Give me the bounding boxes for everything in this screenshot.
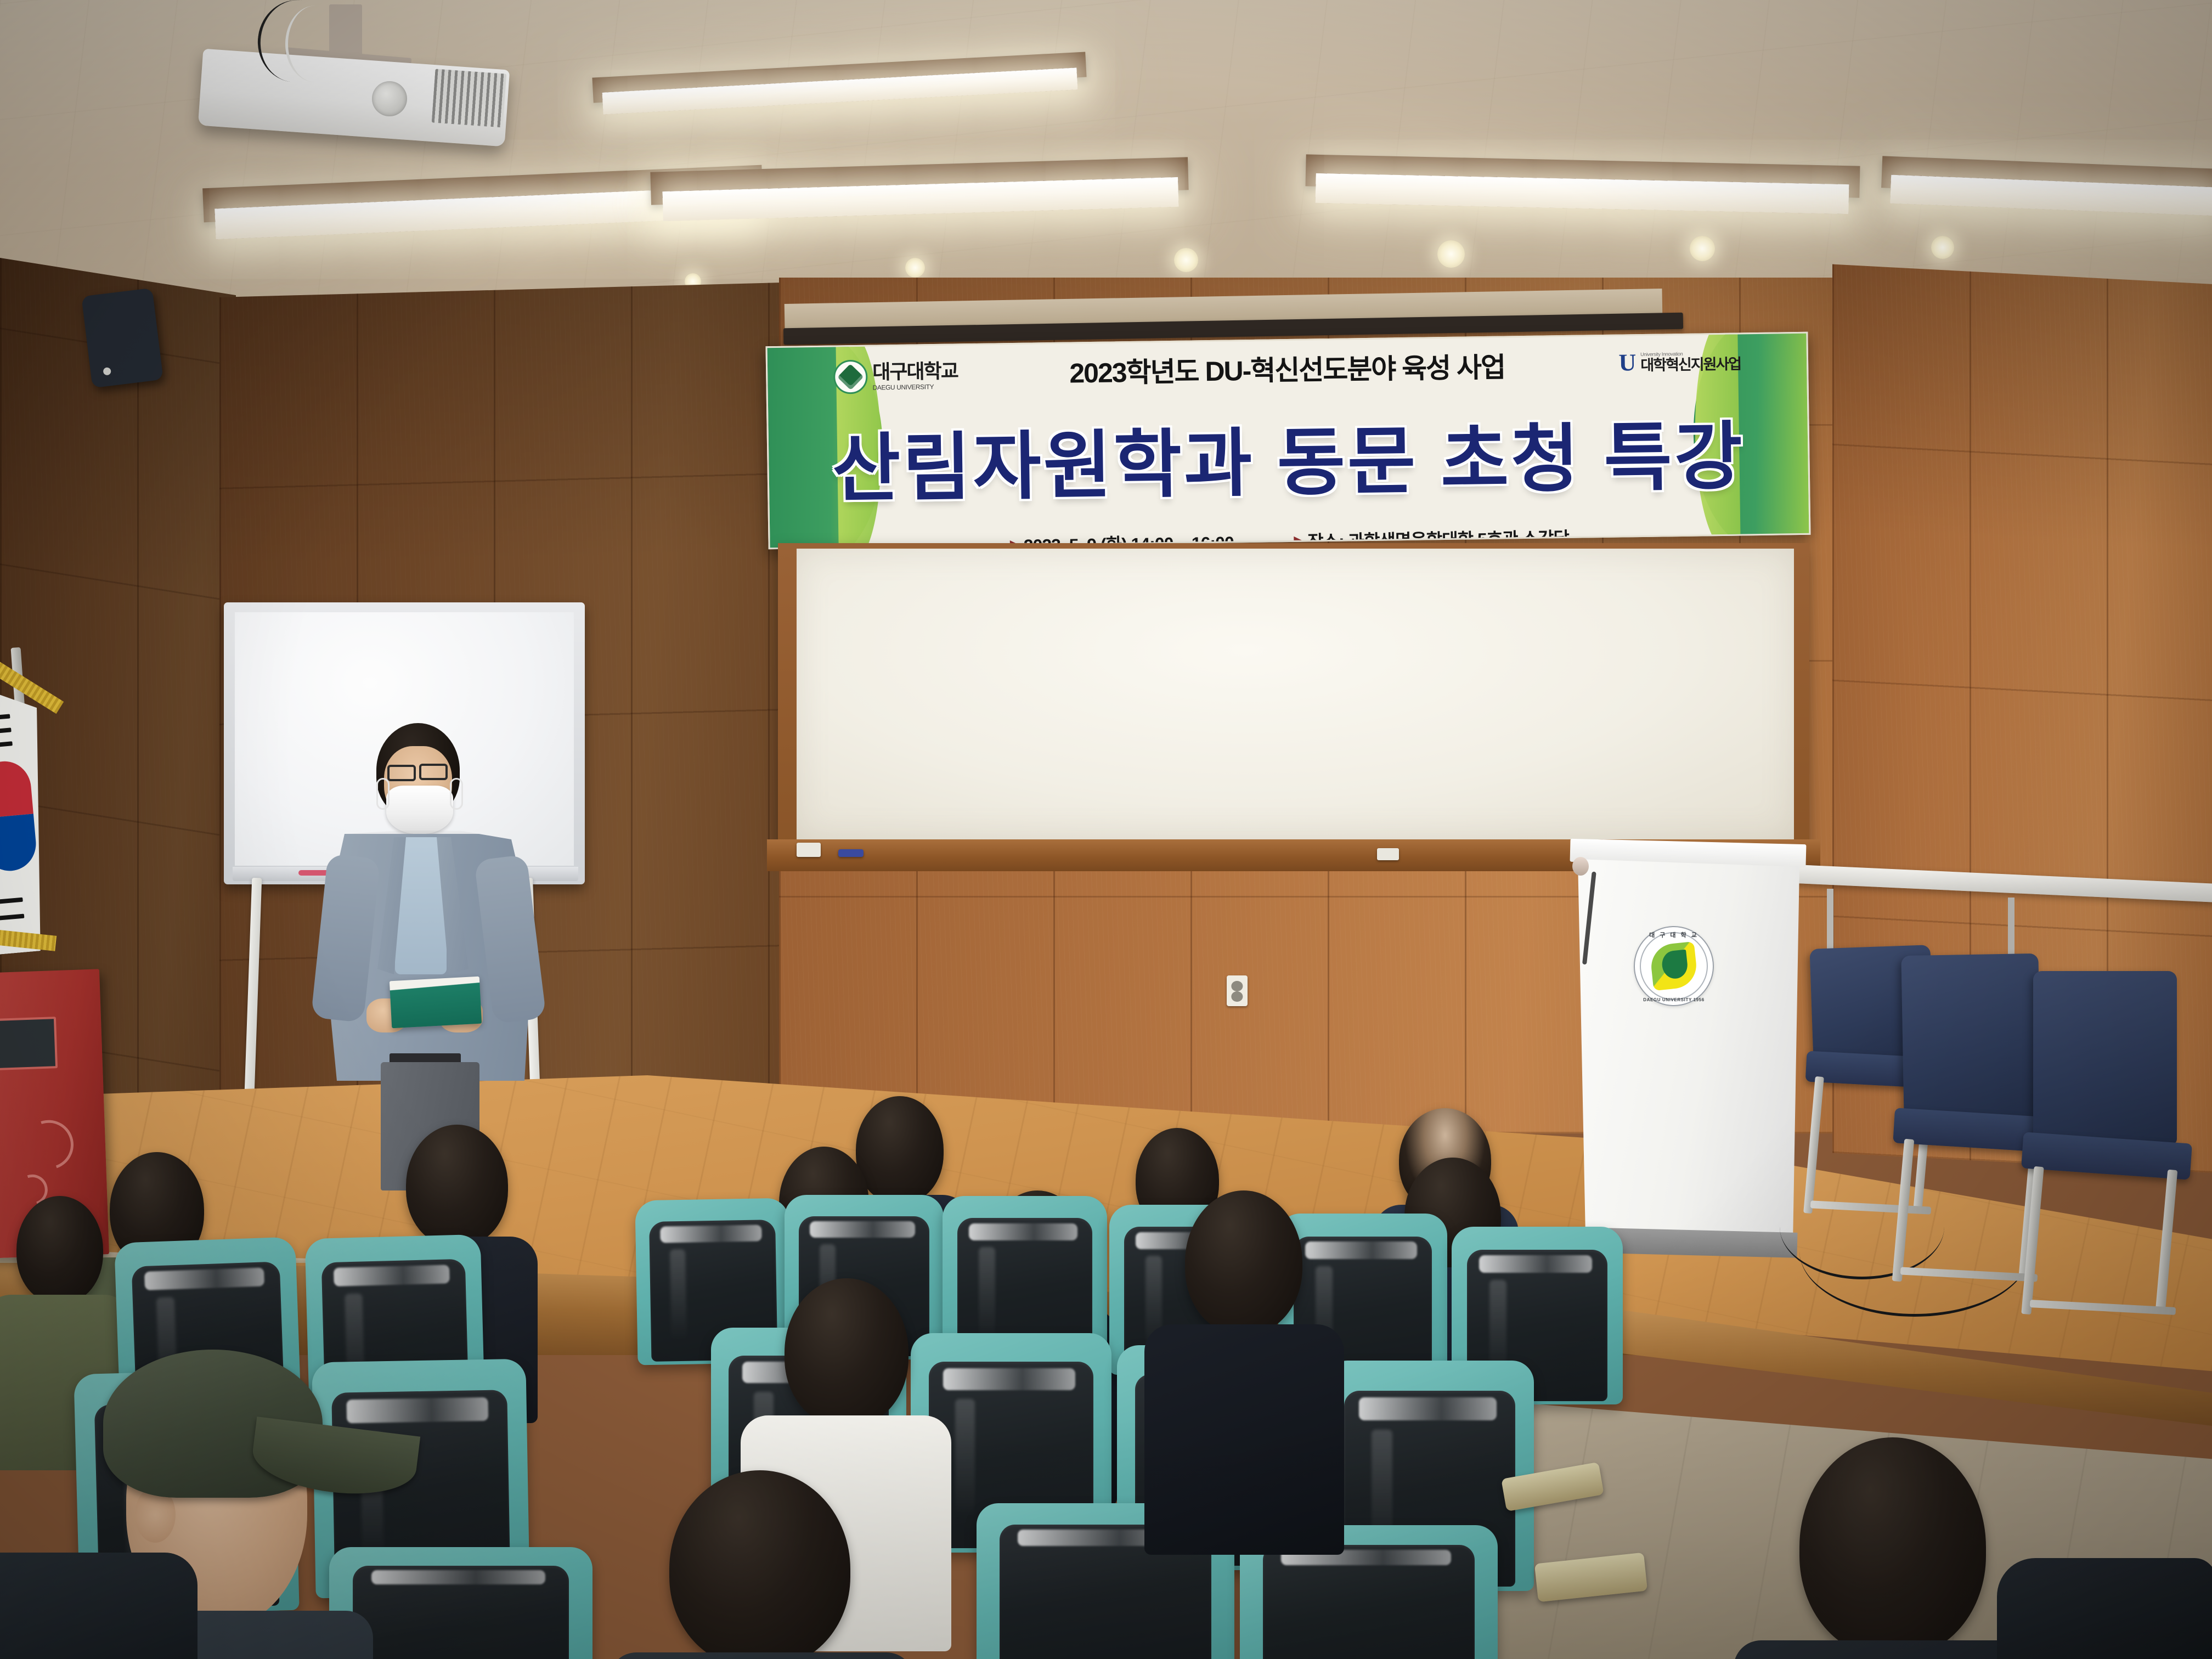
audience-torso <box>1997 1558 2212 1659</box>
lecture-hall-photo: 대구대학교 DAEGU UNIVERSITY 2023학년도 DU-혁신선도분야… <box>0 0 2212 1659</box>
projector-cable <box>285 5 346 82</box>
side-chair[interactable] <box>2022 971 2209 1289</box>
presenter-booklet <box>390 977 482 1028</box>
daegu-university-seal: 대 구 대 학 교 DAEGU UNIVERSITY 1956 <box>1634 926 1714 1006</box>
audience-torso <box>0 1553 198 1659</box>
university-name-english: DAEGU UNIVERSITY <box>872 383 958 391</box>
event-banner: 대구대학교 DAEGU UNIVERSITY 2023학년도 DU-혁신선도분야… <box>766 332 1811 549</box>
ceiling-downlight <box>905 258 925 278</box>
program-name-korean: 대학혁신지원사업 <box>1640 357 1741 373</box>
trigram-bar-icon <box>0 898 23 905</box>
audience-head <box>406 1125 508 1246</box>
podium-microphone-head-icon <box>1572 857 1589 876</box>
audience-head <box>785 1278 909 1426</box>
presenter <box>307 708 582 1190</box>
trigram-bar-icon <box>0 741 13 749</box>
whiteboard-marker[interactable] <box>838 849 864 857</box>
audience-torso <box>1144 1324 1344 1555</box>
innovation-program-logo: U University Innovation 대학혁신지원사업 <box>1618 351 1741 373</box>
presenter-glasses <box>387 765 416 781</box>
whiteboard-eraser[interactable] <box>1377 848 1399 860</box>
taeguk-lower-icon <box>0 814 38 873</box>
audience-head <box>16 1196 103 1304</box>
program-u-mark-icon: U <box>1618 353 1636 373</box>
cabinet-decoration <box>16 1112 82 1178</box>
projector-vent <box>432 69 507 128</box>
audience-head <box>669 1470 850 1659</box>
ceiling-downlight <box>1690 236 1715 261</box>
wall-speaker <box>81 288 163 388</box>
trigram-bar-icon <box>0 914 24 922</box>
trigram-bar-icon <box>0 714 10 722</box>
ceiling-downlight <box>1437 240 1465 268</box>
cabinet-window <box>0 1017 58 1070</box>
presenter-glasses <box>419 764 448 780</box>
projection-screen <box>797 549 1794 839</box>
trigram-bar-icon <box>0 727 12 736</box>
daegu-university-mark-icon <box>833 360 868 394</box>
university-name-korean: 대구대학교 <box>872 361 958 382</box>
seal-korean-text: 대 구 대 학 교 <box>1635 930 1713 939</box>
wall-outlet <box>1227 975 1248 1006</box>
projector-lens <box>372 81 407 116</box>
banner-eyebrow: 2023학년도 DU-혁신선도분야 육성 사업 <box>1069 345 1505 391</box>
presenter-face-mask <box>386 786 453 834</box>
seal-english-text: DAEGU UNIVERSITY 1956 <box>1635 997 1713 1002</box>
audience-torso <box>609 1652 914 1659</box>
taeguk-upper-icon <box>0 759 33 819</box>
audience-head <box>1185 1190 1302 1334</box>
audience-head <box>1799 1437 1986 1657</box>
whiteboard-eraser[interactable] <box>797 843 821 857</box>
ceiling-downlight <box>1174 248 1198 272</box>
banner-title: 산림자원학과 동문 초청 특강 <box>832 396 1746 516</box>
lectern <box>1578 859 1799 1243</box>
ceiling-downlight <box>1931 236 1954 259</box>
audience-head <box>856 1096 944 1204</box>
daegu-university-logo: 대구대학교 DAEGU UNIVERSITY <box>833 358 958 394</box>
